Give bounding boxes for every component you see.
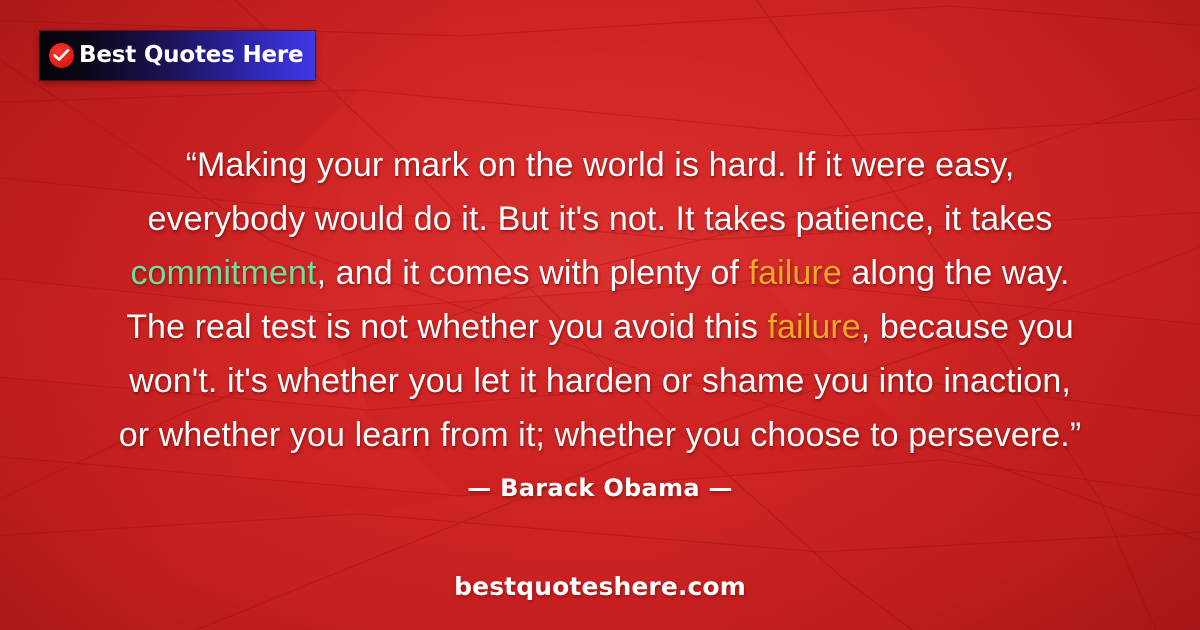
quote-line: or whether you learn from it; whether yo… xyxy=(60,408,1140,462)
quote-segment: “Making your mark on the world is hard. … xyxy=(186,146,1015,184)
quote-highlight-amber: failure xyxy=(767,308,860,346)
brand-logo-label: Best Quotes Here xyxy=(79,44,303,67)
quote-text: “Making your mark on the world is hard. … xyxy=(60,138,1140,462)
quote-segment: , and it comes with plenty of xyxy=(317,254,749,292)
quote-attribution: — Barack Obama — xyxy=(0,474,1200,502)
quote-segment: or whether you learn from it; whether yo… xyxy=(119,416,1082,454)
quote-line: “Making your mark on the world is hard. … xyxy=(60,138,1140,192)
quote-segment: along the way. xyxy=(842,254,1070,292)
quote-highlight-amber: failure xyxy=(749,254,842,292)
quote-segment: won't. it's whether you let it harden or… xyxy=(129,362,1071,400)
brand-logo-badge[interactable]: Best Quotes Here xyxy=(40,31,315,80)
check-circle-icon xyxy=(49,43,74,68)
quote-line: The real test is not whether you avoid t… xyxy=(60,300,1140,354)
quote-segment: everybody would do it. But it's not. It … xyxy=(148,200,1053,238)
quote-line: commitment, and it comes with plenty of … xyxy=(60,246,1140,300)
quote-highlight-green: commitment xyxy=(130,254,316,292)
quote-segment: The real test is not whether you avoid t… xyxy=(126,308,767,346)
quote-line: won't. it's whether you let it harden or… xyxy=(60,354,1140,408)
site-url: bestquoteshere.com xyxy=(0,572,1200,601)
quote-line: everybody would do it. But it's not. It … xyxy=(60,192,1140,246)
quote-card: Best Quotes Here “Making your mark on th… xyxy=(0,0,1200,630)
quote-segment: , because you xyxy=(861,308,1074,346)
